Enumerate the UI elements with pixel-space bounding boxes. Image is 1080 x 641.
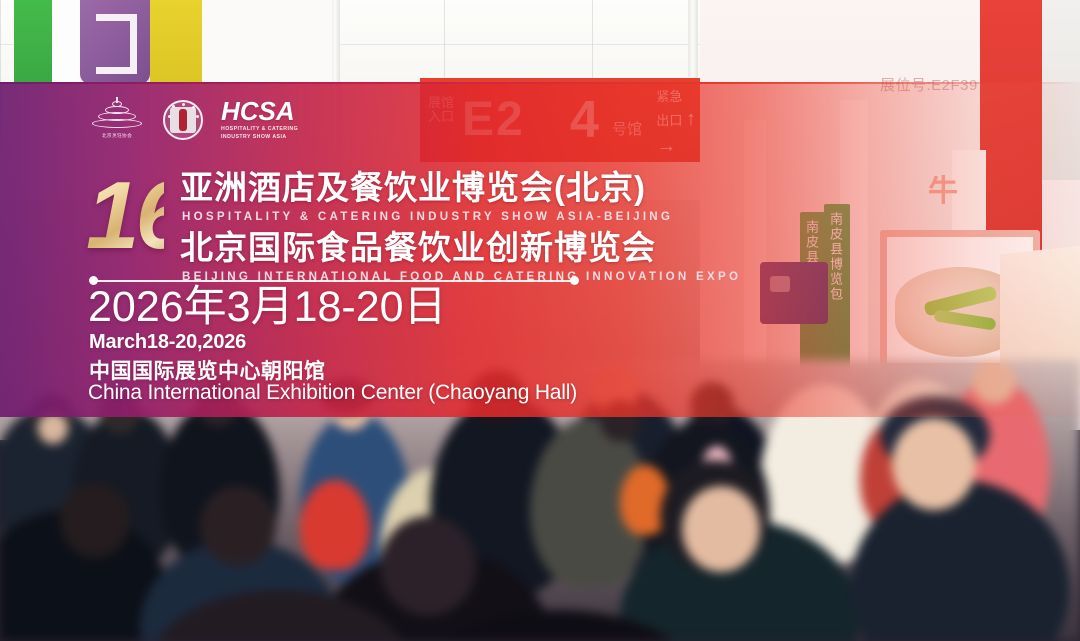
yellow-signage-board — [150, 0, 202, 84]
green-signage-bar — [14, 0, 52, 84]
poster-content: 北京烹饪协会 HCSA HOSPITALITY & CATERING INDUS… — [0, 82, 1080, 417]
edition-number: 16 — [86, 170, 164, 266]
crowd-phone — [300, 480, 370, 570]
event-date-en: March18-20,2026 — [89, 331, 246, 354]
event-title-text: 亚洲酒店及餐饮业博览会(北京) HOSPITALITY & CATERING I… — [180, 170, 741, 284]
event-venue-en: China International Exhibition Center (C… — [88, 381, 577, 405]
organizer-logos: 北京烹饪协会 HCSA HOSPITALITY & CATERING INDUS… — [89, 98, 298, 142]
circular-seal-icon — [163, 100, 203, 140]
hcsa-tagline-line1: HOSPITALITY & CATERING — [221, 126, 298, 134]
divider-dot-right — [570, 276, 579, 285]
beijing-association-caption: 北京烹饪协会 — [90, 132, 143, 139]
event-title-en-primary: HOSPITALITY & CATERING INDUSTRY SHOW ASI… — [182, 211, 741, 224]
event-poster: 展馆入口 E2 4 号馆 紧急出口 ↑→ 南皮县博览包 南皮县博览包 牛 展位号… — [0, 0, 1080, 641]
crowd-person-face — [892, 418, 976, 510]
crowd-person-face — [682, 486, 760, 572]
crowd-person-head — [200, 486, 276, 566]
dome-pavilion-icon — [89, 100, 145, 130]
beijing-association-logo: 北京烹饪协会 — [89, 100, 145, 139]
event-title-block: 16 亚洲酒店及餐饮业博览会(北京) HOSPITALITY & CATERIN… — [86, 170, 741, 284]
event-title-cn-primary: 亚洲酒店及餐饮业博览会(北京) — [180, 170, 741, 206]
event-title-cn-secondary: 北京国际食品餐饮业创新博览会 — [180, 230, 741, 266]
white-signage-bar — [52, 0, 80, 84]
hcsa-logo: HCSA HOSPITALITY & CATERING INDUSTRY SHO… — [221, 98, 298, 142]
hcsa-wordmark: HCSA — [221, 98, 298, 124]
hall-white-wall — [202, 0, 332, 84]
crowd-person-head — [60, 482, 130, 558]
event-date-cn: 2026年3月18-20日 — [88, 282, 447, 333]
crowd-person-head — [380, 516, 476, 616]
purple-signage-board — [80, 0, 150, 84]
hcsa-tagline-line2: INDUSTRY SHOW ASIA — [221, 134, 298, 142]
